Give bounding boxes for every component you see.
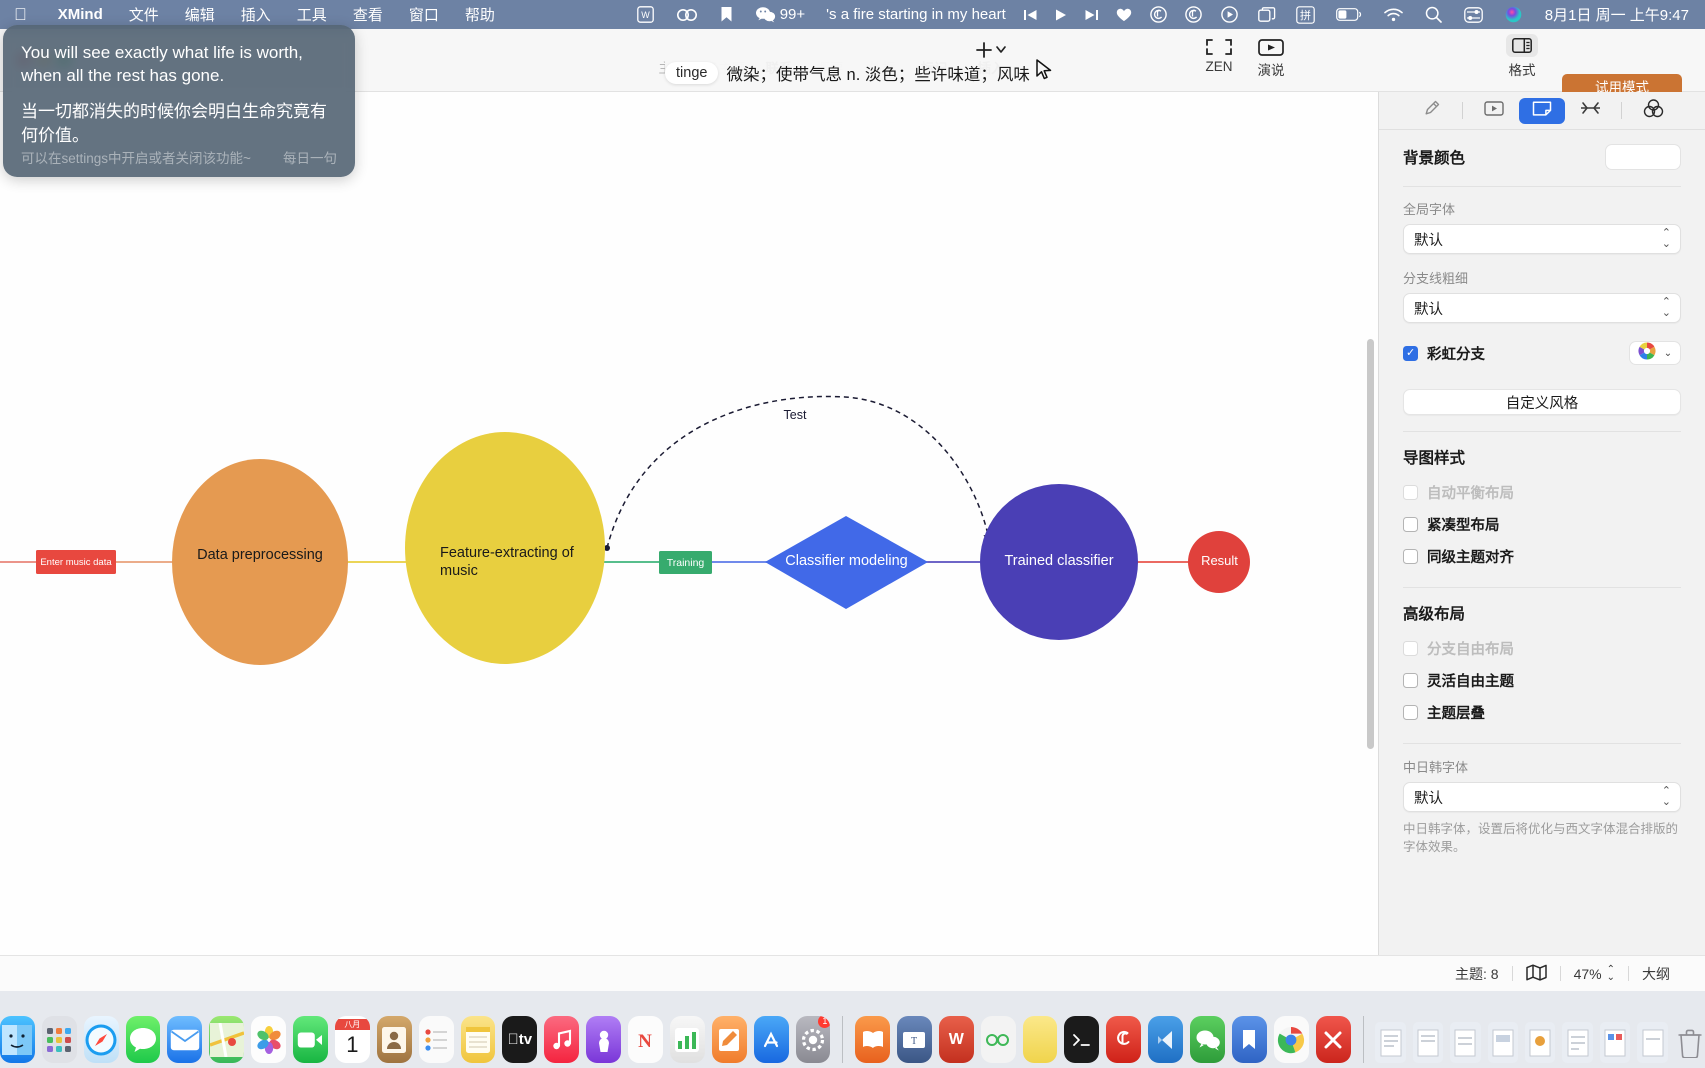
panel-tab-separator-2: [1621, 102, 1622, 119]
relationship-arc-test[interactable]: [607, 396, 988, 548]
compact-layout-label: 紧凑型布局: [1427, 514, 1500, 535]
dock-item-books[interactable]: [855, 1016, 890, 1063]
menu-item-view[interactable]: 查看: [340, 4, 396, 25]
play-circle-icon[interactable]: [1211, 6, 1248, 23]
dock-item-news[interactable]: N: [628, 1016, 663, 1063]
map-style-option-compact[interactable]: 紧凑型布局: [1403, 514, 1681, 535]
color-rings-icon: [1643, 99, 1664, 123]
dictionary-definition: 微染；使带气息 n. 淡色；些许味道；风味: [726, 61, 1029, 85]
svg-text:T: T: [911, 1036, 917, 1047]
mac-dock: 八月 1 tv N 1 T W: [0, 991, 1705, 1068]
format-panel-tabs: [1379, 92, 1705, 130]
dock-separator-2: [1363, 1016, 1364, 1063]
background-color-section: 背景颜色: [1379, 130, 1705, 187]
wechat-badge: 99+: [780, 7, 817, 22]
dock-recent-1[interactable]: [1375, 1022, 1405, 1063]
dock-item-notes[interactable]: [461, 1016, 496, 1063]
control-center-icon[interactable]: [1453, 7, 1494, 23]
format-panel-label: 格式: [1509, 63, 1536, 78]
node-training[interactable]: [659, 551, 712, 574]
map-view-icon: [1526, 964, 1547, 984]
dock-item-contacts[interactable]: [377, 1016, 412, 1063]
panel-tab-separator-1: [1462, 102, 1463, 119]
dock-recent-2[interactable]: [1413, 1022, 1443, 1063]
advanced-option-free-branch[interactable]: 分支自由布局: [1403, 638, 1681, 659]
bookmark-icon[interactable]: [709, 6, 744, 23]
heart-icon[interactable]: [1107, 8, 1141, 22]
battery-icon[interactable]: [1325, 8, 1373, 21]
previous-track-icon[interactable]: [1015, 8, 1046, 22]
menu-bar-tray: W 99+ 's a fire starting in my heart: [626, 4, 1691, 25]
dock-item-messages[interactable]: [126, 1016, 161, 1063]
free-branch-label: 分支自由布局: [1427, 638, 1514, 659]
dock-item-chrome[interactable]: [1274, 1016, 1309, 1063]
vertical-scrollbar[interactable]: [1367, 92, 1374, 991]
dock-item-xmind-alt[interactable]: [981, 1016, 1016, 1063]
outline-tab[interactable]: [1567, 98, 1613, 124]
play-rect-icon: [1245, 37, 1297, 60]
cjk-font-label: 中日韩字体: [1403, 757, 1681, 776]
auto-balance-label: 自动平衡布局: [1427, 482, 1514, 503]
global-font-label: 全局字体: [1403, 199, 1681, 218]
menu-item-tools[interactable]: 工具: [284, 4, 340, 25]
slide-icon: [1484, 100, 1504, 122]
next-track-icon[interactable]: [1076, 8, 1107, 22]
custom-style-section: 自定义风格: [1379, 365, 1705, 432]
sibling-align-checkbox[interactable]: [1403, 549, 1418, 564]
topic-count: 主题: 8: [1442, 964, 1512, 984]
format-panel-button[interactable]: 格式: [1492, 59, 1552, 79]
node-classifier-modeling[interactable]: [765, 516, 928, 609]
chevron-down-icon: ⌄: [1664, 348, 1672, 359]
trash-icon: [1677, 1028, 1703, 1058]
slide-tab[interactable]: [1471, 98, 1517, 124]
dock-item-podcasts[interactable]: [586, 1016, 621, 1063]
dock-item-launchpad[interactable]: [42, 1016, 77, 1063]
apple-tv-label: tv: [508, 1031, 533, 1048]
dock-item-settings[interactable]: 1: [796, 1016, 831, 1063]
branch-width-select[interactable]: 默认 ⌃⌄: [1403, 293, 1681, 323]
auto-balance-checkbox[interactable]: [1403, 485, 1418, 500]
calendar-month: 八月: [335, 1019, 370, 1030]
rainbow-palette-selector[interactable]: ⌄: [1629, 341, 1681, 365]
siri-icon[interactable]: [1494, 6, 1533, 23]
dictionary-word: tinge: [665, 62, 718, 84]
dock-item-typora[interactable]: T: [897, 1016, 932, 1063]
dock-item-photos[interactable]: [251, 1016, 286, 1063]
background-color-swatch[interactable]: [1605, 144, 1681, 170]
rainbow-branch-label: 彩虹分支: [1427, 343, 1485, 364]
dock-recent-5[interactable]: [1525, 1022, 1555, 1063]
dictionary-lookup-popup: tinge 微染；使带气息 n. 淡色；些许味道；风味: [665, 59, 1066, 87]
mouse-cursor-icon: [1034, 58, 1056, 89]
advanced-option-flexible-topic[interactable]: 灵活自由主题: [1403, 670, 1681, 691]
topic-overlap-label: 主题层叠: [1427, 702, 1485, 723]
flexible-topic-checkbox[interactable]: [1403, 673, 1418, 688]
dock-item-calendar[interactable]: 八月 1: [335, 1016, 370, 1063]
color-wheel-icon: [1638, 342, 1656, 365]
play-icon[interactable]: [1046, 8, 1076, 22]
svg-text:W: W: [641, 10, 650, 20]
rainbow-branch-checkbox[interactable]: [1403, 346, 1418, 361]
dock-item-appstore[interactable]: [754, 1016, 789, 1063]
notification-footer-hint: 可以在settings中开启或者关闭该功能~: [21, 147, 251, 167]
global-font-select[interactable]: 默认 ⌃⌄: [1403, 224, 1681, 254]
branch-width-section: 分支线粗细 默认 ⌃⌄: [1379, 254, 1705, 323]
dock-item-vscode[interactable]: [1148, 1016, 1183, 1063]
dock-recent-4[interactable]: [1488, 1022, 1518, 1063]
custom-style-button[interactable]: 自定义风格: [1403, 389, 1681, 415]
branch-width-label: 分支线粗细: [1403, 268, 1681, 287]
theme-tab[interactable]: [1630, 98, 1676, 124]
calendar-day: 1: [346, 1030, 358, 1060]
menu-item-insert[interactable]: 插入: [228, 4, 284, 25]
window-stack-icon[interactable]: [1248, 7, 1286, 23]
sibling-align-label: 同级主题对齐: [1427, 546, 1514, 567]
dock-item-notability[interactable]: [1023, 1016, 1058, 1063]
search-icon[interactable]: [1414, 6, 1453, 23]
format-panel: 背景颜色 全局字体 默认 ⌃⌄ 分支线粗细 默认 ⌃⌄: [1378, 92, 1705, 991]
cjk-font-select[interactable]: 默认 ⌃⌄: [1403, 782, 1681, 812]
compact-layout-checkbox[interactable]: [1403, 517, 1418, 532]
notification-source-label: 每日一句: [283, 147, 337, 167]
advanced-layout-section: 高级布局 分支自由布局 灵活自由主题 主题层叠: [1379, 588, 1705, 744]
dock-recent-7[interactable]: [1600, 1022, 1630, 1063]
map-style-title: 导图样式: [1403, 446, 1681, 468]
pinyin-input-icon[interactable]: 拼: [1286, 6, 1325, 24]
wifi-icon[interactable]: [1373, 8, 1414, 22]
dock-item-reminders[interactable]: [419, 1016, 454, 1063]
advanced-option-topic-overlap[interactable]: 主题层叠: [1403, 702, 1681, 723]
netease-music-icon-2[interactable]: [1176, 6, 1211, 23]
cjk-font-value: 默认: [1414, 787, 1443, 808]
svg-text:N: N: [639, 1031, 653, 1052]
map-style-option-auto-balance[interactable]: 自动平衡布局: [1403, 482, 1681, 503]
node-result[interactable]: [1188, 531, 1250, 593]
node-feature-extracting[interactable]: [405, 432, 605, 664]
wechat-icon[interactable]: [744, 6, 780, 23]
menu-item-window[interactable]: 窗口: [396, 4, 452, 25]
dock-item-wechat[interactable]: [1190, 1016, 1225, 1063]
canvas-tab[interactable]: [1519, 98, 1565, 124]
global-font-value: 默认: [1414, 229, 1443, 250]
svg-text:拼: 拼: [1300, 8, 1311, 22]
chevron-updown-icon-3: ⌃⌄: [1662, 786, 1671, 808]
map-style-option-align[interactable]: 同级主题对齐: [1403, 546, 1681, 567]
style-brush-tab[interactable]: [1408, 98, 1454, 124]
loop-icon[interactable]: [665, 7, 709, 23]
notification-chinese-text: 当一切都消失的时候你会明白生命究竟有何价值。: [21, 100, 337, 148]
menu-item-file[interactable]: 文件: [116, 4, 172, 25]
dock-item-netease[interactable]: [1106, 1016, 1141, 1063]
align-icon: [1580, 100, 1601, 121]
dock-separator: [842, 1016, 843, 1063]
menu-item-edit[interactable]: 编辑: [172, 4, 228, 25]
free-branch-checkbox[interactable]: [1403, 641, 1418, 656]
dock-item-wps[interactable]: W: [939, 1016, 974, 1063]
presentation-button[interactable]: 演说: [1245, 59, 1297, 79]
chevron-updown-icon-2: ⌃⌄: [1662, 297, 1671, 319]
cjk-font-hint: 中日韩字体，设置后将优化与西文字体混合排版的字体效果。: [1403, 820, 1681, 856]
dock-item-terminal[interactable]: [1064, 1016, 1099, 1063]
dock-item-maps[interactable]: [209, 1016, 244, 1063]
dock-recent-8[interactable]: [1637, 1022, 1667, 1063]
dock-item-finder[interactable]: [0, 1016, 35, 1063]
apple-logo-icon[interactable]: : [14, 6, 27, 23]
topic-overlap-checkbox[interactable]: [1403, 705, 1418, 720]
node-data-preprocessing[interactable]: [172, 459, 348, 665]
dock-recent-6[interactable]: [1562, 1022, 1592, 1063]
menu-bar-clock[interactable]: 8月1日 周一 上午9:47: [1533, 4, 1691, 25]
mindmap-svg: [0, 92, 1378, 991]
map-view-button[interactable]: [1513, 964, 1560, 984]
node-enter-music-data[interactable]: [36, 550, 116, 574]
dock-item-music[interactable]: [544, 1016, 579, 1063]
flexible-topic-label: 灵活自由主题: [1427, 670, 1514, 691]
dock-item-appletv[interactable]: tv: [502, 1016, 537, 1063]
now-playing-title: 's a fire starting in my heart: [817, 7, 1015, 22]
netease-music-icon[interactable]: [1141, 6, 1176, 23]
menu-item-help[interactable]: 帮助: [452, 4, 508, 25]
dock-item-mail[interactable]: [167, 1016, 202, 1063]
global-font-section: 全局字体 默认 ⌃⌄: [1379, 187, 1705, 254]
sticky-note-icon: [1532, 100, 1552, 122]
vertical-scrollbar-thumb[interactable]: [1367, 339, 1374, 749]
dock-item-numbers[interactable]: [670, 1016, 705, 1063]
chevron-updown-icon: ⌃⌄: [1662, 228, 1671, 250]
cjk-font-section: 中日韩字体 默认 ⌃⌄ 中日韩字体，设置后将优化与西文字体混合排版的字体效果。: [1379, 744, 1705, 856]
plus-icon: [959, 39, 1023, 59]
background-color-label: 背景颜色: [1403, 146, 1465, 168]
settings-badge-count: 1: [818, 1016, 830, 1028]
dock-recent-3[interactable]: [1450, 1022, 1480, 1063]
dock-item-bookmark-app[interactable]: [1232, 1016, 1267, 1063]
panel-layout-icon: [1506, 34, 1538, 57]
wps-writer-icon: W: [949, 1031, 964, 1049]
zoom-stepper-icon[interactable]: ⌃⌄: [1607, 966, 1615, 982]
presentation-label: 演说: [1258, 63, 1285, 78]
menu-app-name[interactable]: XMind: [45, 6, 116, 23]
fullscreen-brackets-icon: [1193, 37, 1245, 60]
status-bar: 主题: 8 47% ⌃⌄ 大纲: [0, 955, 1705, 991]
wps-icon[interactable]: W: [626, 6, 665, 23]
dock-item-trash[interactable]: [1675, 1022, 1705, 1063]
node-trained-classifier[interactable]: [980, 484, 1138, 640]
dock-item-facetime[interactable]: [293, 1016, 328, 1063]
notification-english-text: You will see exactly what life is worth,…: [21, 41, 337, 88]
zen-label: ZEN: [1206, 59, 1233, 74]
branch-width-value: 默认: [1414, 298, 1443, 319]
dock-item-xmind[interactable]: [1316, 1016, 1351, 1063]
map-style-section: 导图样式 自动平衡布局 紧凑型布局 同级主题对齐: [1379, 432, 1705, 588]
zen-button[interactable]: ZEN: [1193, 59, 1245, 74]
dock-item-safari[interactable]: [84, 1016, 119, 1063]
zoom-level: 47%: [1574, 966, 1602, 982]
zoom-control[interactable]: 47% ⌃⌄: [1561, 966, 1628, 982]
daily-quote-notification[interactable]: You will see exactly what life is worth,…: [3, 25, 355, 177]
dock-item-pages[interactable]: [712, 1016, 747, 1063]
mindmap-canvas[interactable]: Enter music data Data preprocessing Feat…: [0, 92, 1378, 991]
paint-brush-icon: [1422, 99, 1441, 123]
advanced-layout-title: 高级布局: [1403, 602, 1681, 624]
outline-button[interactable]: 大纲: [1629, 964, 1683, 984]
rainbow-branch-section: 彩虹分支 ⌄: [1379, 323, 1705, 365]
